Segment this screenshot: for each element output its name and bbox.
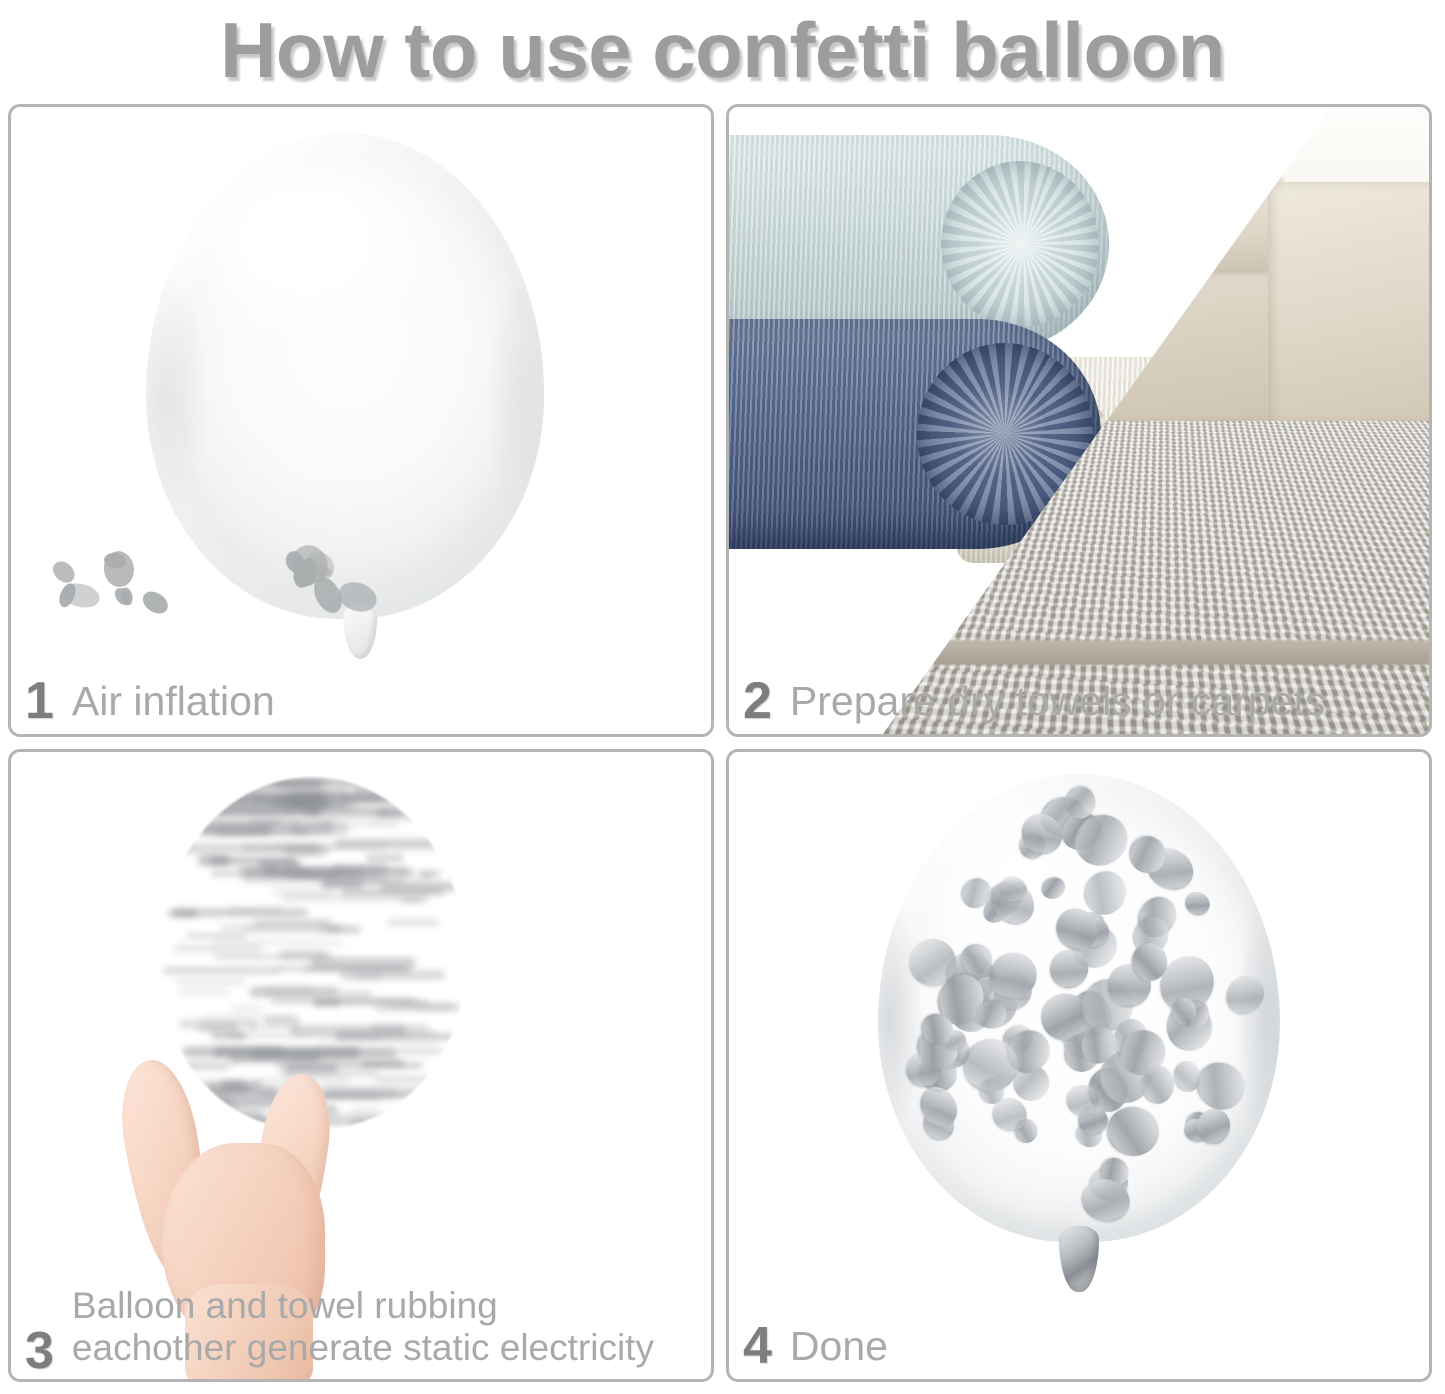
- motion-streak: [371, 815, 445, 822]
- motion-streak: [337, 990, 372, 998]
- motion-streak: [242, 926, 361, 934]
- motion-streak: [387, 919, 441, 927]
- motion-streak: [303, 967, 407, 971]
- step-panel-2: 2 Prepare dry towels or carpets: [726, 104, 1432, 737]
- step-panel-1: 1 Air inflation: [8, 104, 714, 737]
- motion-streak: [213, 939, 345, 946]
- motion-streak: [210, 857, 295, 864]
- motion-streak: [209, 792, 260, 797]
- clear-confetti-balloon: [878, 774, 1280, 1242]
- confetti-piece: [111, 585, 133, 608]
- hand: [123, 1003, 403, 1354]
- motion-streak: [181, 843, 319, 854]
- motion-streak: [200, 824, 334, 834]
- motion-streak: [239, 867, 277, 873]
- motion-streak: [282, 894, 429, 902]
- motion-streak: [163, 967, 280, 973]
- motion-streak: [186, 933, 247, 937]
- balloon-neck: [1059, 1226, 1099, 1292]
- motion-streak: [221, 778, 327, 786]
- motion-streak: [284, 789, 431, 792]
- step-2-image: [729, 107, 1429, 734]
- step-4-image: [729, 752, 1429, 1379]
- motion-streak: [178, 989, 231, 996]
- motion-streak: [340, 970, 446, 980]
- step-3-image: [11, 752, 711, 1379]
- steps-grid: 1 Air inflation: [8, 104, 1432, 1382]
- motion-streak: [191, 820, 336, 824]
- motion-streak: [421, 870, 440, 878]
- page-title: How to use confetti balloon: [0, 0, 1445, 100]
- motion-streak: [366, 854, 404, 863]
- infographic-page: How to use confetti balloon 1 Air inflat…: [0, 0, 1445, 1394]
- white-balloon: [146, 133, 544, 619]
- step-panel-4: 4 Done: [726, 749, 1432, 1382]
- balloon-edge-shading: [146, 133, 544, 619]
- motion-streak: [228, 907, 283, 913]
- step-1-image: [11, 107, 711, 734]
- motion-streak: [290, 874, 383, 878]
- motion-streak: [273, 796, 330, 807]
- wrist: [185, 1284, 314, 1379]
- motion-streak: [168, 910, 198, 917]
- confetti-piece: [140, 587, 173, 617]
- confetti-piece: [49, 557, 78, 586]
- motion-streak: [324, 881, 390, 885]
- motion-streak: [177, 980, 245, 983]
- sofa-arm: [1268, 182, 1429, 458]
- motion-streak: [249, 987, 339, 997]
- motion-streak: [383, 778, 434, 788]
- balloon-neck: [343, 605, 377, 659]
- motion-streak: [436, 1034, 465, 1040]
- silver-confetti-dot: [1171, 998, 1197, 1026]
- step-panel-3: 3 Balloon and towel rubbing eachother ge…: [8, 749, 714, 1382]
- towel-roll-core: [941, 161, 1099, 327]
